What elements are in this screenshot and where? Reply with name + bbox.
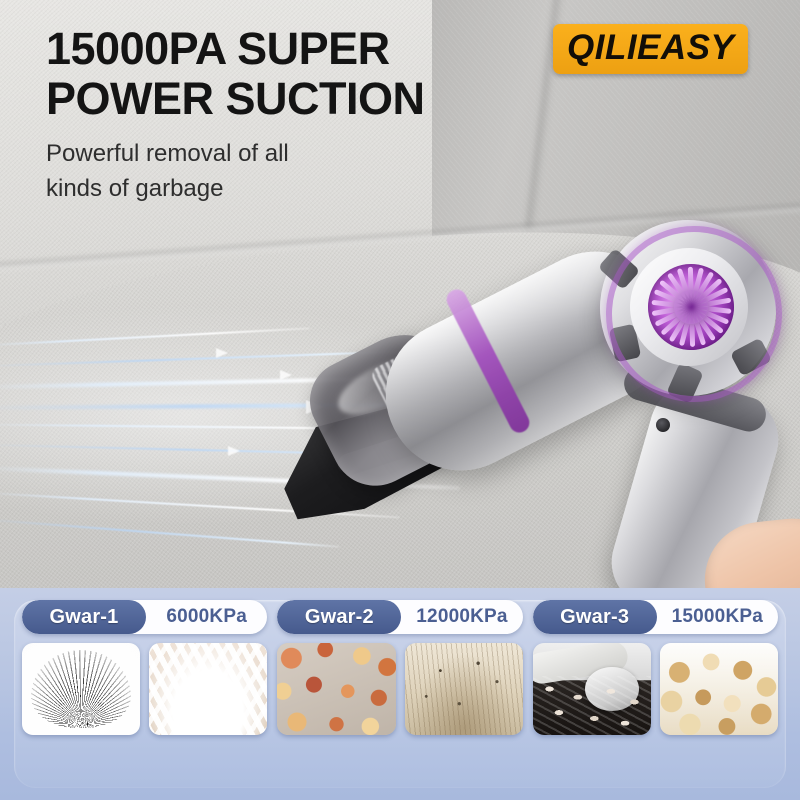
gear-pill[interactable]: Gwar-315000KPa — [533, 600, 778, 634]
brand-name: QILIEASY — [567, 28, 734, 67]
gear-label: Gwar-2 — [277, 600, 401, 634]
sand-dust-thumbnail[interactable] — [405, 643, 523, 735]
hair-debris-thumbnail[interactable] — [22, 643, 140, 735]
airflow-arrow — [280, 370, 292, 380]
gear-group-1: Gwar-16000KPa — [22, 600, 267, 790]
pressure-value: 6000KPa — [146, 600, 267, 634]
handle-vent-hole — [656, 418, 670, 432]
brand-badge: QILIEASY — [553, 24, 748, 74]
subtitle: Powerful removal of all kinds of garbage — [46, 136, 396, 206]
product-photo-scene: 15000PA SUPER POWER SUCTION Powerful rem… — [0, 0, 800, 600]
white-scoop — [585, 667, 639, 711]
product-advertisement: 15000PA SUPER POWER SUCTION Powerful rem… — [0, 0, 800, 800]
gear-group-3: Gwar-315000KPa — [533, 600, 778, 790]
handheld-vacuum-device — [300, 190, 800, 600]
airflow-arrow — [228, 446, 240, 456]
thumbnail-row — [22, 643, 267, 735]
headline-line-2: POWER SUCTION — [46, 74, 516, 124]
gear-group-list: Gwar-16000KPaGwar-212000KPaGwar-315000KP… — [14, 600, 786, 790]
thumbnail-row — [533, 643, 778, 735]
subhead-line-2: kinds of garbage — [46, 171, 396, 206]
coffee-beans-thumbnail[interactable] — [533, 643, 651, 735]
gear-pill[interactable]: Gwar-16000KPa — [22, 600, 267, 634]
pressure-value: 12000KPa — [401, 600, 522, 634]
page-title: 15000PA SUPER POWER SUCTION — [46, 24, 516, 124]
gear-pill[interactable]: Gwar-212000KPa — [277, 600, 522, 634]
airflow-arrow — [216, 348, 228, 358]
colored-stones-thumbnail[interactable] — [277, 643, 395, 735]
thumbnail-row — [277, 643, 522, 735]
gear-label: Gwar-1 — [22, 600, 146, 634]
paper-shreds-thumbnail[interactable] — [149, 643, 267, 735]
bean-bag — [533, 643, 629, 686]
pressure-value: 15000KPa — [657, 600, 778, 634]
wood-chips-thumbnail[interactable] — [660, 643, 778, 735]
gear-group-2: Gwar-212000KPa — [277, 600, 522, 790]
subhead-line-1: Powerful removal of all — [46, 136, 396, 171]
headline-line-1: 15000PA SUPER — [46, 24, 516, 74]
gear-label: Gwar-3 — [533, 600, 657, 634]
